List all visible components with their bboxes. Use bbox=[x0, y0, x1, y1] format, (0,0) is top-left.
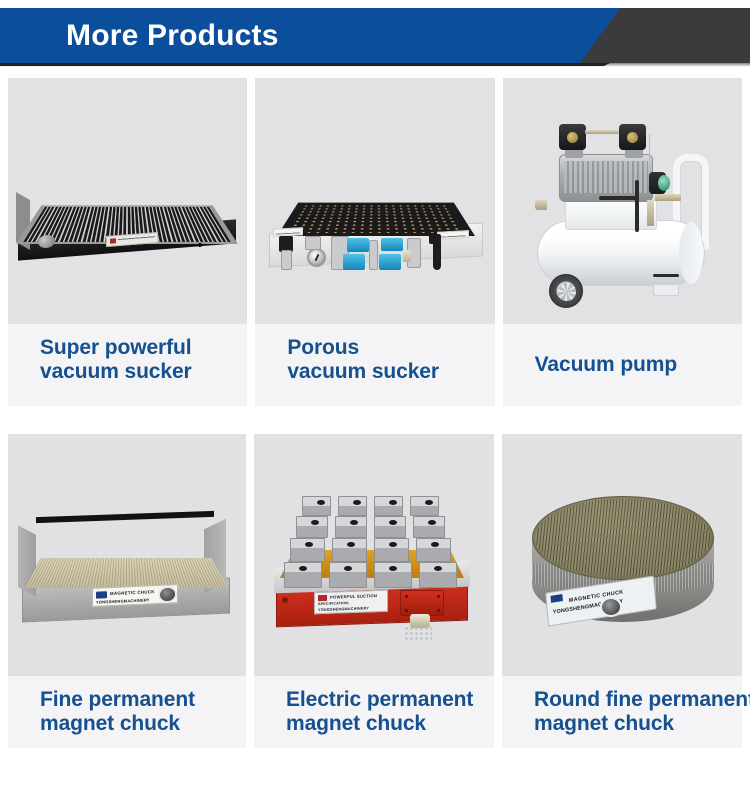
steel-block bbox=[374, 496, 403, 516]
steel-block bbox=[290, 538, 325, 562]
product-image-fine-permanent-magnet-chuck[interactable]: MAGNETIC CHUCK YONGSHENGMACHINERY bbox=[8, 434, 246, 676]
product-card-electric-permanent-magnet-chuck[interactable]: POWERFUL SUCTION SPECIFICATION: YONGSHEN… bbox=[254, 434, 494, 748]
steel-block bbox=[410, 496, 439, 516]
pump-crossover-tube bbox=[585, 130, 619, 134]
pump-cable bbox=[599, 196, 637, 200]
nameplate-subtitle: YONGSHENGMACHINERY bbox=[96, 597, 150, 604]
porous-outlet-pipe bbox=[433, 240, 441, 270]
plate-port bbox=[198, 243, 202, 247]
steel-block bbox=[335, 516, 367, 538]
steel-block bbox=[416, 538, 451, 562]
section-title: More Products bbox=[66, 8, 279, 63]
product-caption-electric-permanent-magnet-chuck: Electric permanent magnet chuck bbox=[254, 676, 494, 748]
pump-cylinder-head-left bbox=[559, 124, 586, 150]
porous-nameplate-right bbox=[437, 230, 469, 240]
steel-block bbox=[296, 516, 328, 538]
porous-regulator bbox=[305, 236, 321, 250]
pump-base-box bbox=[565, 200, 657, 230]
caption-line-1: Electric permanent bbox=[286, 688, 468, 712]
steel-block bbox=[374, 516, 406, 538]
product-caption-vacuum-pump: Vacuum pump bbox=[503, 324, 742, 406]
vacuum-pump-illustration bbox=[503, 78, 742, 324]
caption-line-2: magnet chuck bbox=[40, 712, 220, 736]
product-row-2: MAGNETIC CHUCK YONGSHENGMACHINERY Fine p… bbox=[8, 434, 742, 748]
section-banner: More Products bbox=[0, 0, 750, 78]
porous-blue-fitting-3 bbox=[381, 238, 403, 251]
chuck-nameplate: POWERFUL SUCTION SPECIFICATION: YONGSHEN… bbox=[314, 590, 388, 615]
chuck-working-surface bbox=[24, 558, 228, 588]
porous-hole-pattern bbox=[287, 205, 465, 233]
pump-wheel bbox=[549, 274, 583, 308]
nameplate-title: MAGNETIC CHUCK bbox=[110, 589, 155, 596]
pump-pressure-gauge bbox=[649, 172, 666, 194]
chuck-safety-chain bbox=[404, 626, 432, 640]
caption-line-1: Round fine permanent bbox=[534, 688, 716, 712]
nameplate-spec: SPECIFICATION: bbox=[318, 601, 349, 606]
vacuum-chuck-plate-illustration bbox=[8, 78, 247, 324]
caption-line-1: Vacuum pump bbox=[535, 353, 677, 377]
product-card-porous-vacuum-sucker[interactable]: Porous vacuum sucker bbox=[255, 78, 494, 406]
porous-blue-fitting-1 bbox=[347, 238, 369, 252]
steel-block bbox=[413, 516, 445, 538]
caption-line-2: vacuum sucker bbox=[287, 360, 468, 384]
brand-logo-icon bbox=[318, 595, 327, 601]
product-image-vacuum-pump[interactable] bbox=[503, 78, 742, 324]
steel-block bbox=[374, 538, 409, 562]
caption-line-1: Porous bbox=[287, 336, 468, 360]
chuck-side-screw bbox=[282, 597, 288, 603]
pump-brass-drain bbox=[647, 200, 654, 226]
product-card-super-powerful-vacuum-sucker[interactable]: Super powerful vacuum sucker bbox=[8, 78, 247, 406]
porous-blue-fitting-2 bbox=[343, 254, 365, 270]
porous-blue-fitting-4 bbox=[379, 254, 401, 270]
porous-brass-nut bbox=[403, 250, 411, 262]
brand-logo-icon bbox=[550, 594, 562, 603]
product-image-porous-vacuum-sucker[interactable] bbox=[255, 78, 494, 324]
chuck-steel-block-array bbox=[280, 490, 464, 586]
steel-block bbox=[284, 562, 322, 588]
steel-block bbox=[338, 496, 367, 516]
product-image-round-fine-permanent-magnet-chuck[interactable]: MAGNETIC CHUCK YONGSHENGMACHINERY bbox=[502, 434, 742, 676]
steel-block bbox=[329, 562, 367, 588]
caption-line-2: vacuum sucker bbox=[40, 360, 221, 384]
product-caption-round-fine-permanent-magnet-chuck: Round fine permanent magnet chuck bbox=[502, 676, 742, 748]
caption-line-2: magnet chuck bbox=[534, 712, 716, 736]
pump-hose bbox=[635, 180, 639, 232]
pump-brass-manifold bbox=[655, 194, 681, 201]
round-chuck-working-surface bbox=[532, 496, 714, 580]
pump-foot bbox=[653, 284, 679, 296]
caption-line-1: Super powerful bbox=[40, 336, 221, 360]
product-row-1: Super powerful vacuum sucker bbox=[8, 78, 742, 406]
round-chuck-switch-knob bbox=[600, 597, 622, 617]
product-card-round-fine-permanent-magnet-chuck[interactable]: MAGNETIC CHUCK YONGSHENGMACHINERY Round … bbox=[502, 434, 742, 748]
porous-connector-body bbox=[281, 250, 292, 270]
steel-block bbox=[332, 538, 367, 562]
steel-block bbox=[302, 496, 331, 516]
pump-nylon-tube bbox=[649, 134, 659, 174]
product-caption-super-powerful-vacuum-sucker: Super powerful vacuum sucker bbox=[8, 324, 247, 406]
fine-magnetic-chuck-illustration: MAGNETIC CHUCK YONGSHENGMACHINERY bbox=[8, 434, 246, 676]
nameplate-title: POWERFUL SUCTION bbox=[330, 593, 377, 600]
round-magnetic-chuck-illustration: MAGNETIC CHUCK YONGSHENGMACHINERY bbox=[502, 434, 742, 676]
product-card-fine-permanent-magnet-chuck[interactable]: MAGNETIC CHUCK YONGSHENGMACHINERY Fine p… bbox=[8, 434, 246, 748]
banner-shadow bbox=[0, 63, 750, 67]
product-caption-fine-permanent-magnet-chuck: Fine permanent magnet chuck bbox=[8, 676, 246, 748]
steel-block bbox=[419, 562, 457, 588]
pump-power-cord bbox=[653, 274, 679, 277]
porous-valve-2 bbox=[369, 240, 378, 270]
electro-magnetic-chuck-illustration: POWERFUL SUCTION SPECIFICATION: YONGSHEN… bbox=[254, 434, 494, 676]
nameplate-subtitle: YONGSHENGMACHINERY bbox=[318, 606, 369, 612]
brand-logo-icon bbox=[96, 591, 107, 598]
chuck-junction-box bbox=[400, 590, 444, 616]
porous-vacuum-table-illustration bbox=[255, 78, 494, 324]
product-image-super-powerful-vacuum-sucker[interactable] bbox=[8, 78, 247, 324]
chuck-back-rail bbox=[36, 511, 214, 523]
caption-line-2: magnet chuck bbox=[286, 712, 468, 736]
product-caption-porous-vacuum-sucker: Porous vacuum sucker bbox=[255, 324, 494, 406]
product-image-electric-permanent-magnet-chuck[interactable]: POWERFUL SUCTION SPECIFICATION: YONGSHEN… bbox=[254, 434, 494, 676]
product-card-vacuum-pump[interactable]: Vacuum pump bbox=[503, 78, 742, 406]
product-grid: Super powerful vacuum sucker bbox=[0, 78, 750, 748]
pump-cylinder-head-right bbox=[619, 124, 646, 150]
pump-tank-end-cap bbox=[679, 222, 703, 284]
pump-lifting-lug bbox=[535, 200, 547, 210]
steel-block bbox=[374, 562, 412, 588]
caption-line-1: Fine permanent bbox=[40, 688, 220, 712]
